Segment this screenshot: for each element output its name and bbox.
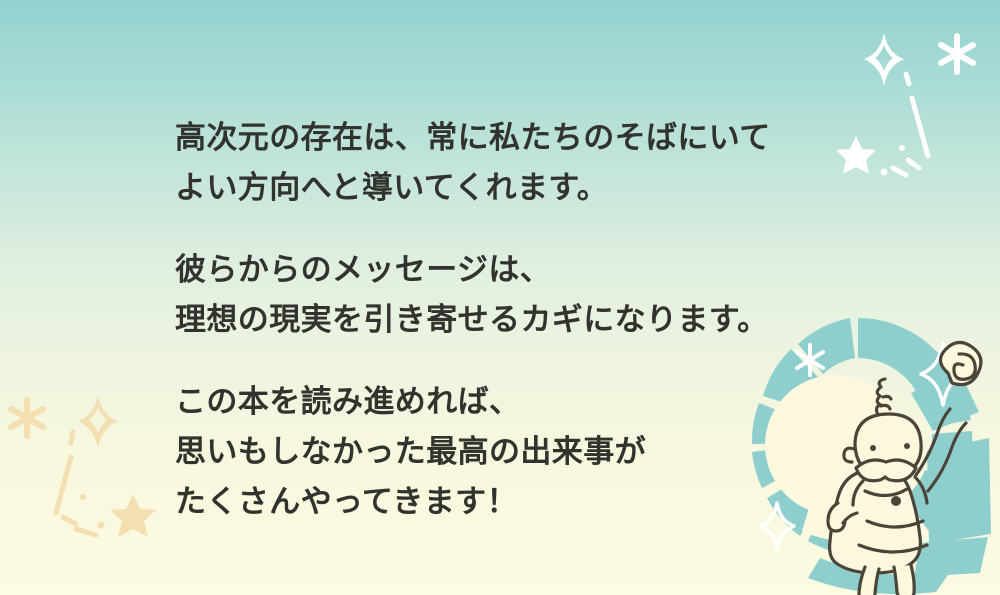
streak-dash-icon <box>76 529 96 535</box>
diamond-sparkle-icon <box>864 33 904 86</box>
streak-dash-icon <box>912 98 928 156</box>
five-point-star-icon <box>836 136 876 174</box>
small-dot-icon <box>80 494 86 500</box>
asterisk-sparkle-icon <box>11 400 43 436</box>
sage-leg <box>894 565 914 595</box>
sun-ray-ring <box>914 537 988 577</box>
sun-ray-ring <box>927 438 991 544</box>
paragraph-1: 高次元の存在は、常に私たちのそばにいて よい方向へと導いてくれます。 <box>175 113 815 213</box>
text-line: 高次元の存在は、常に私たちのそばにいて <box>175 113 815 163</box>
small-dot-icon <box>899 145 905 151</box>
asterisk-sparkle-icon <box>941 36 973 72</box>
sage-eye <box>870 445 876 451</box>
streak-dash-icon <box>63 517 76 524</box>
text-line: よい方向へと導いてくれます。 <box>175 163 815 213</box>
streak-dash-icon <box>908 160 919 168</box>
streak-dash-icon <box>893 168 906 175</box>
sage-clasp <box>891 496 901 506</box>
sun-with-sage-illustration <box>715 305 1000 595</box>
small-dot-icon <box>881 169 888 176</box>
sage-mustache <box>856 460 916 481</box>
promo-graphic-canvas: 高次元の存在は、常に私たちのそばにいて よい方向へと導いてくれます。 彼らからの… <box>0 0 1000 595</box>
five-point-star-icon <box>110 494 156 537</box>
sage-eye <box>904 443 910 449</box>
streak-dash-icon <box>906 74 909 84</box>
text-line: 彼らからのメッセージは、 <box>175 245 815 295</box>
small-dot-icon <box>98 522 105 529</box>
streak-dash-icon <box>56 457 71 513</box>
sage-leg <box>859 567 879 595</box>
diamond-sparkle-icon <box>78 395 118 448</box>
streak-dash-icon <box>71 432 73 443</box>
